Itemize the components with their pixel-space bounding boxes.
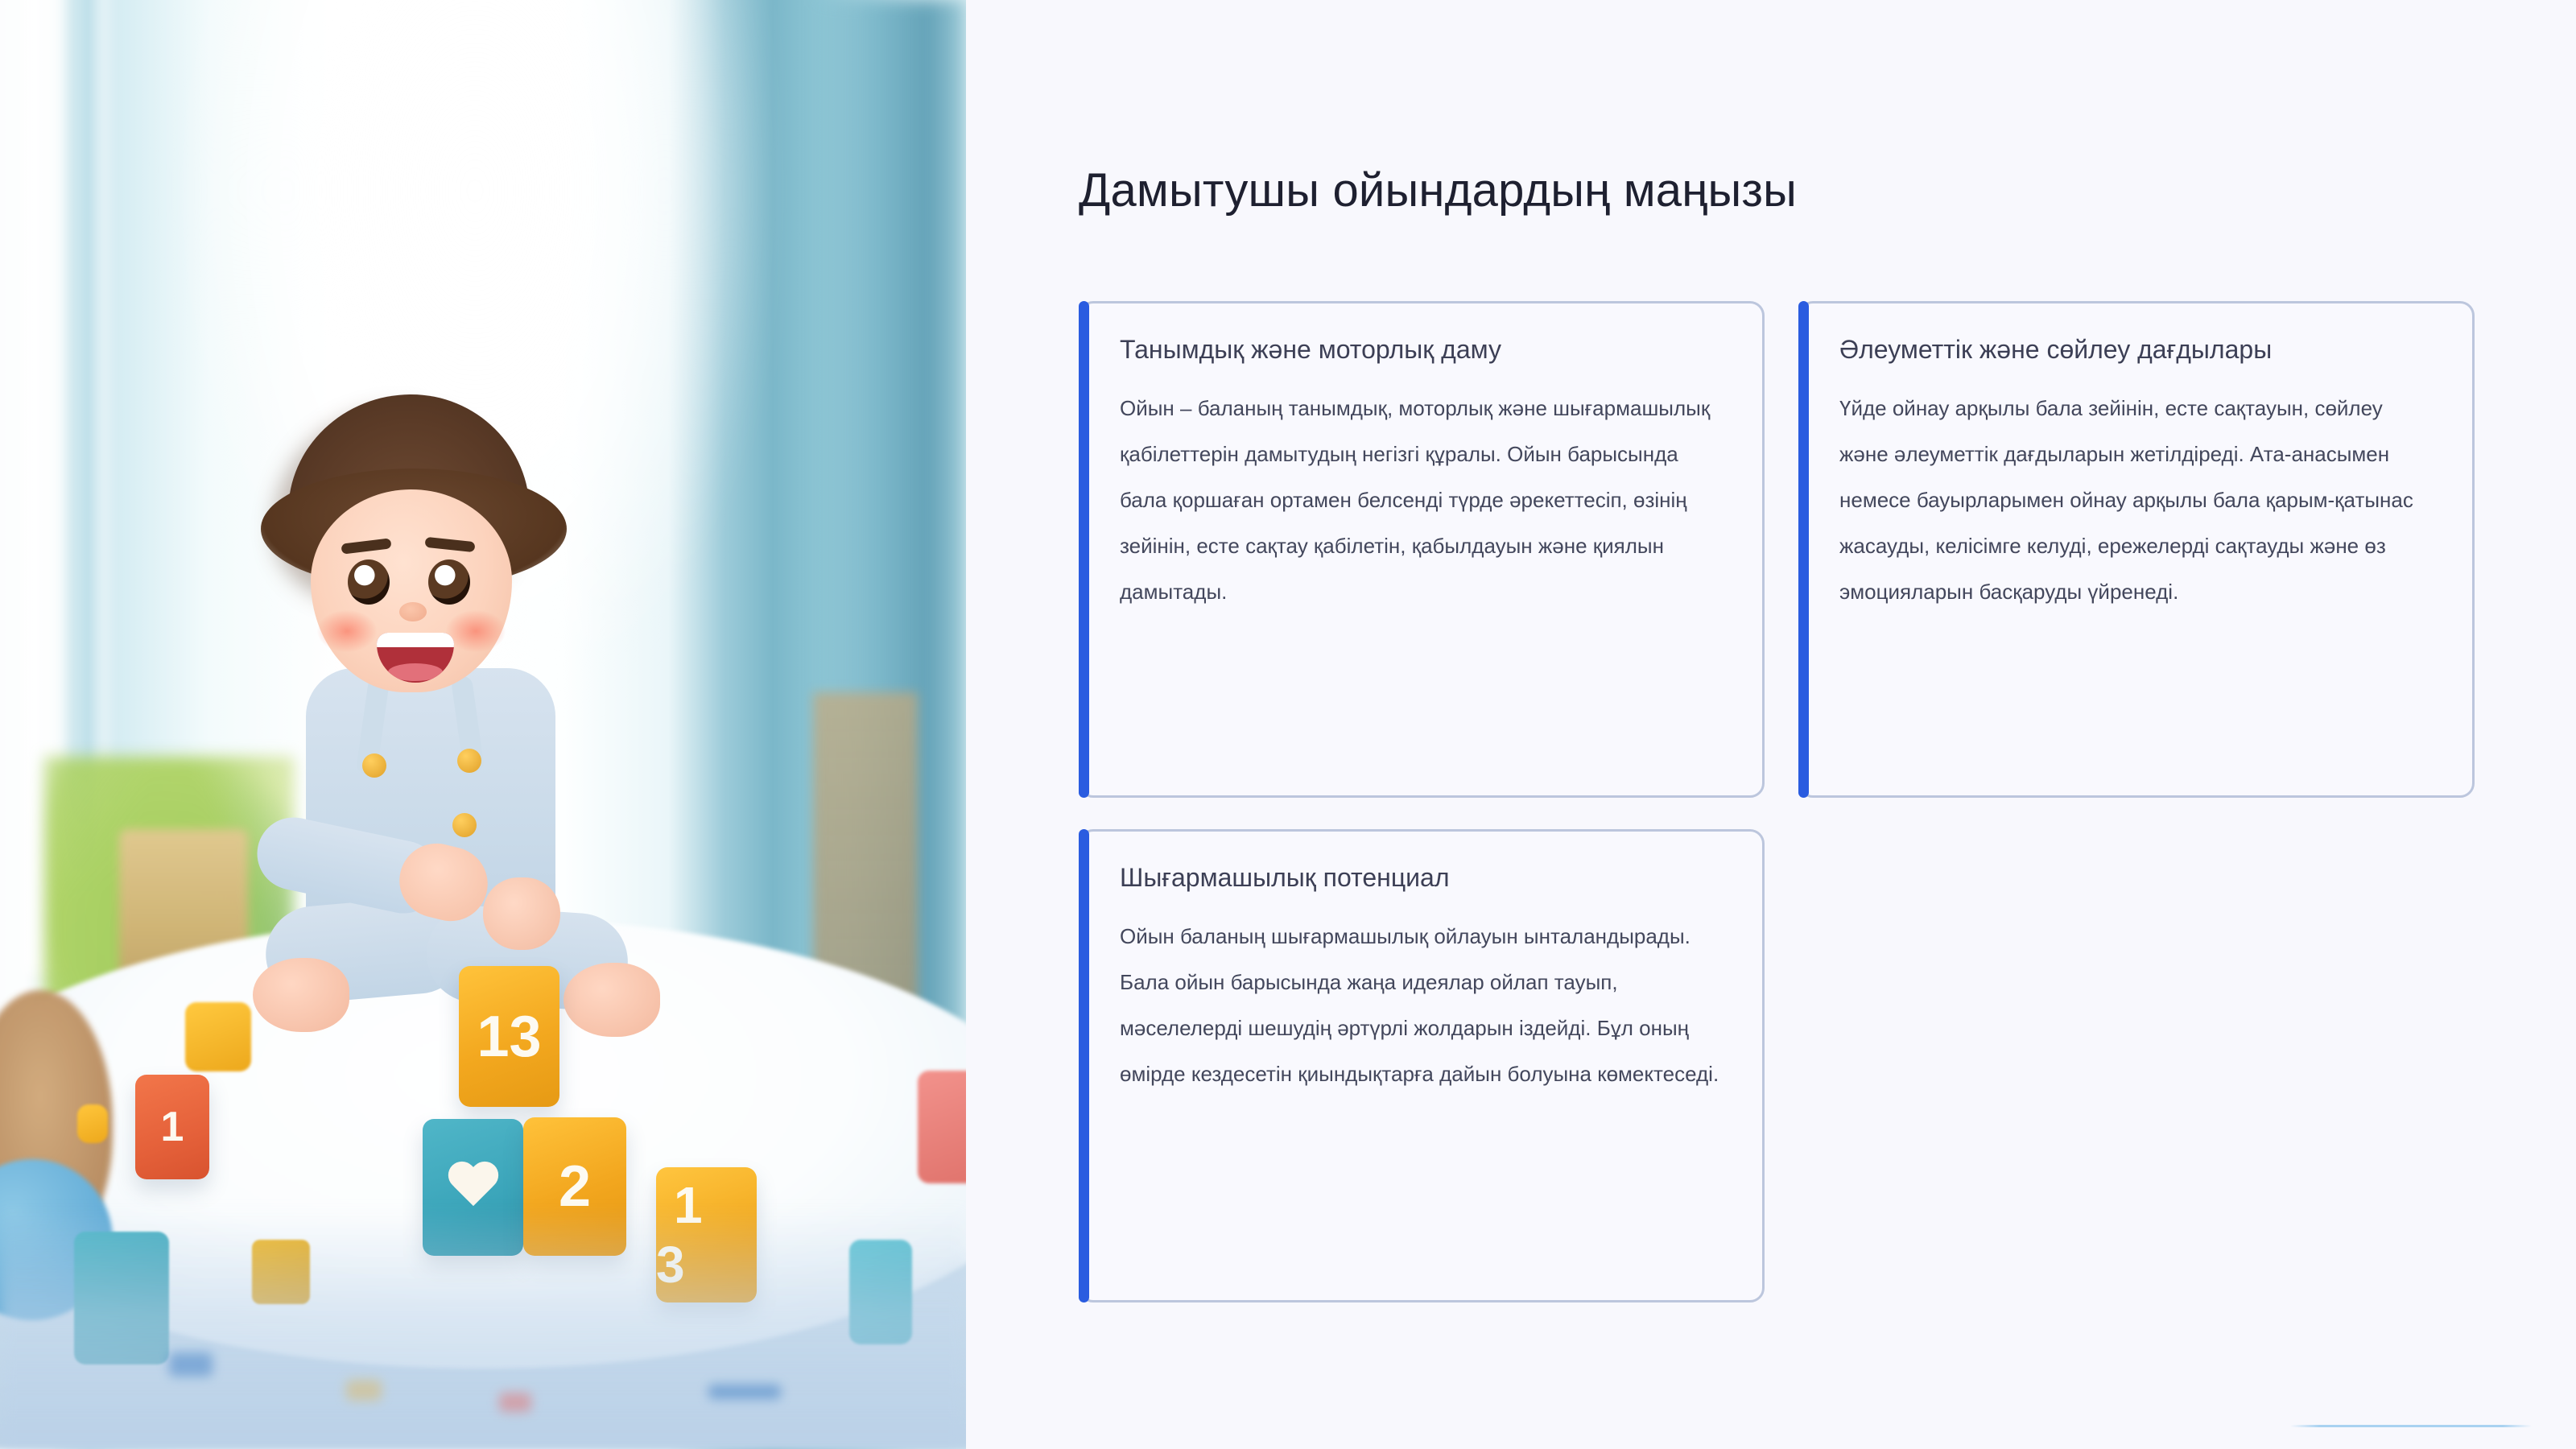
toy-block-yellow-small [185,1002,251,1071]
overall-button [457,749,481,773]
child-cheek-left [317,610,377,652]
foreground-toy-speck [708,1385,781,1399]
card-accent-bar [1798,301,1809,798]
foreground-toy-speck [169,1352,213,1377]
foreground-toy-speck [346,1380,382,1401]
toy-block-pink-right [918,1071,966,1183]
cards-row-top: Танымдық және моторлық даму Ойын – балан… [1079,301,2544,798]
cards-grid: Танымдық және моторлық даму Ойын – балан… [1079,301,2544,1302]
toy-block-13: 13 [459,966,559,1107]
child-cheek-right [446,610,506,652]
card-social-speech[interactable]: Әлеуметтік және сөйлеу дағдылары Үйде ой… [1798,301,2475,798]
card-creative-potential[interactable]: Шығармашылық потенциал Ойын баланың шыға… [1079,829,1765,1302]
overall-button [452,813,477,837]
overall-button [362,753,386,778]
foreground-blur [0,1207,966,1449]
card-body: Үйде ойнау арқылы бала зейінін, есте сақ… [1839,386,2430,616]
child-eye-left [348,559,390,605]
card-accent-bar [1079,829,1089,1302]
card-body: Ойын – баланың танымдық, моторлық және ш… [1120,386,1720,616]
child-hand-right [483,877,560,950]
cards-row-bottom: Шығармашылық потенциал Ойын баланың шыға… [1079,798,2544,1302]
heart-icon [446,1162,501,1212]
toy-block-1: 1 [135,1075,209,1179]
slide: 1 13 2 1 3 Дамытушы ойындардың маңызы Та… [0,0,2576,1449]
card-heading: Әлеуметтік және сөйлеу дағдылары [1839,332,2430,368]
child-foot-right [563,963,660,1037]
child-eye-right [428,559,470,605]
decorative-rule [2290,1425,2532,1427]
card-cognitive-motor[interactable]: Танымдық және моторлық даму Ойын – балан… [1079,301,1765,798]
card-accent-bar [1079,301,1089,798]
content-panel: Дамытушы ойындардың маңызы Танымдық және… [966,0,2576,1449]
child-foot-left [253,958,349,1032]
foreground-toy-speck [499,1393,531,1412]
page-title: Дамытушы ойындардың маңызы [1079,166,1797,217]
illustration-panel: 1 13 2 1 3 [0,0,966,1449]
child-nose [399,602,427,621]
toy-block-yellow-tiny [77,1104,108,1143]
card-heading: Шығармашылық потенциал [1120,861,1720,896]
card-body: Ойын баланың шығармашылық ойлауын ынтала… [1120,914,1720,1098]
card-heading: Танымдық және моторлық даму [1120,332,1720,368]
